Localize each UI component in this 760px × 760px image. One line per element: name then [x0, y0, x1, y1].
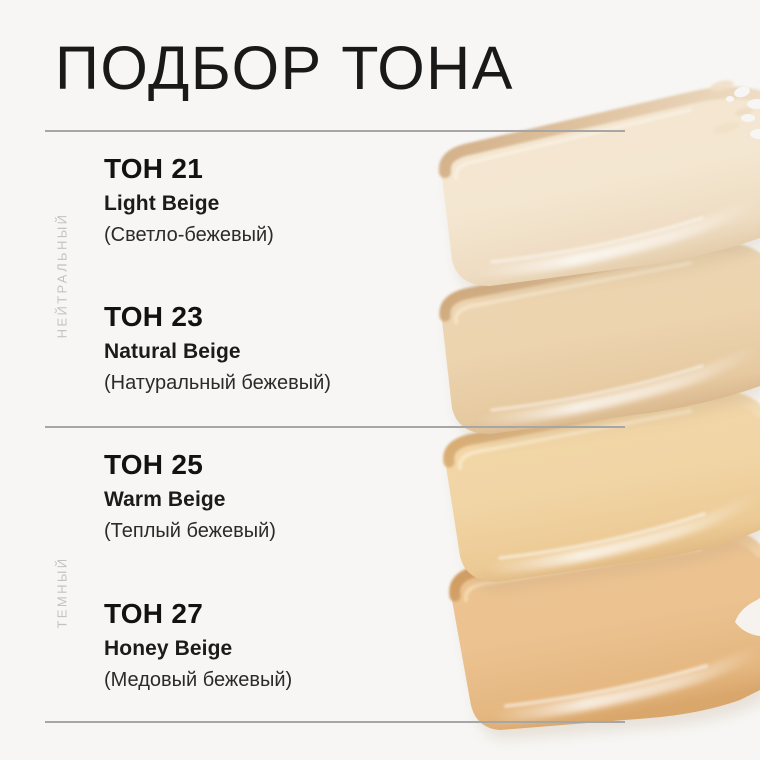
shade-name-en: Natural Beige [104, 338, 331, 365]
shade-code: ТОН 25 [104, 448, 276, 481]
shade-name-en: Honey Beige [104, 635, 292, 662]
shade-name-ru: (Натуральный бежевый) [104, 370, 331, 396]
swatch-shape-21 [442, 78, 760, 295]
shade-name-en: Light Beige [104, 190, 274, 217]
swatch-shape-27 [452, 534, 760, 740]
shade-name-ru: (Медовый бежевый) [104, 667, 292, 693]
shade-name-ru: (Теплый бежевый) [104, 518, 276, 544]
shade-name-en: Warm Beige [104, 486, 276, 513]
shade-entry-21: ТОН 21 Light Beige (Светло-бежевый) [104, 152, 274, 248]
swatch-shape-23 [442, 247, 760, 443]
group-label-neutral: НЕЙТРАЛЬНЫЙ [55, 176, 70, 376]
shade-entry-23: ТОН 23 Natural Beige (Натуральный бежевы… [104, 300, 331, 396]
shade-code: ТОН 21 [104, 152, 274, 185]
group-label-dark: ТЕМНЫЙ [55, 493, 70, 693]
tone-selection-poster: ПОДБОР ТОНА НЕЙТРАЛЬНЫЙ ТЕМНЫЙ ТОН 21 Li… [0, 0, 760, 760]
divider-bottom [45, 721, 625, 723]
shade-name-ru: (Светло-бежевый) [104, 222, 274, 248]
divider-middle [45, 426, 625, 428]
shade-entry-27: ТОН 27 Honey Beige (Медовый бежевый) [104, 597, 292, 693]
divider-top [45, 130, 625, 132]
swatch-shape-25 [446, 395, 760, 591]
shade-entry-25: ТОН 25 Warm Beige (Теплый бежевый) [104, 448, 276, 544]
shade-code: ТОН 23 [104, 300, 331, 333]
shade-code: ТОН 27 [104, 597, 292, 630]
page-title: ПОДБОР ТОНА [55, 38, 514, 99]
